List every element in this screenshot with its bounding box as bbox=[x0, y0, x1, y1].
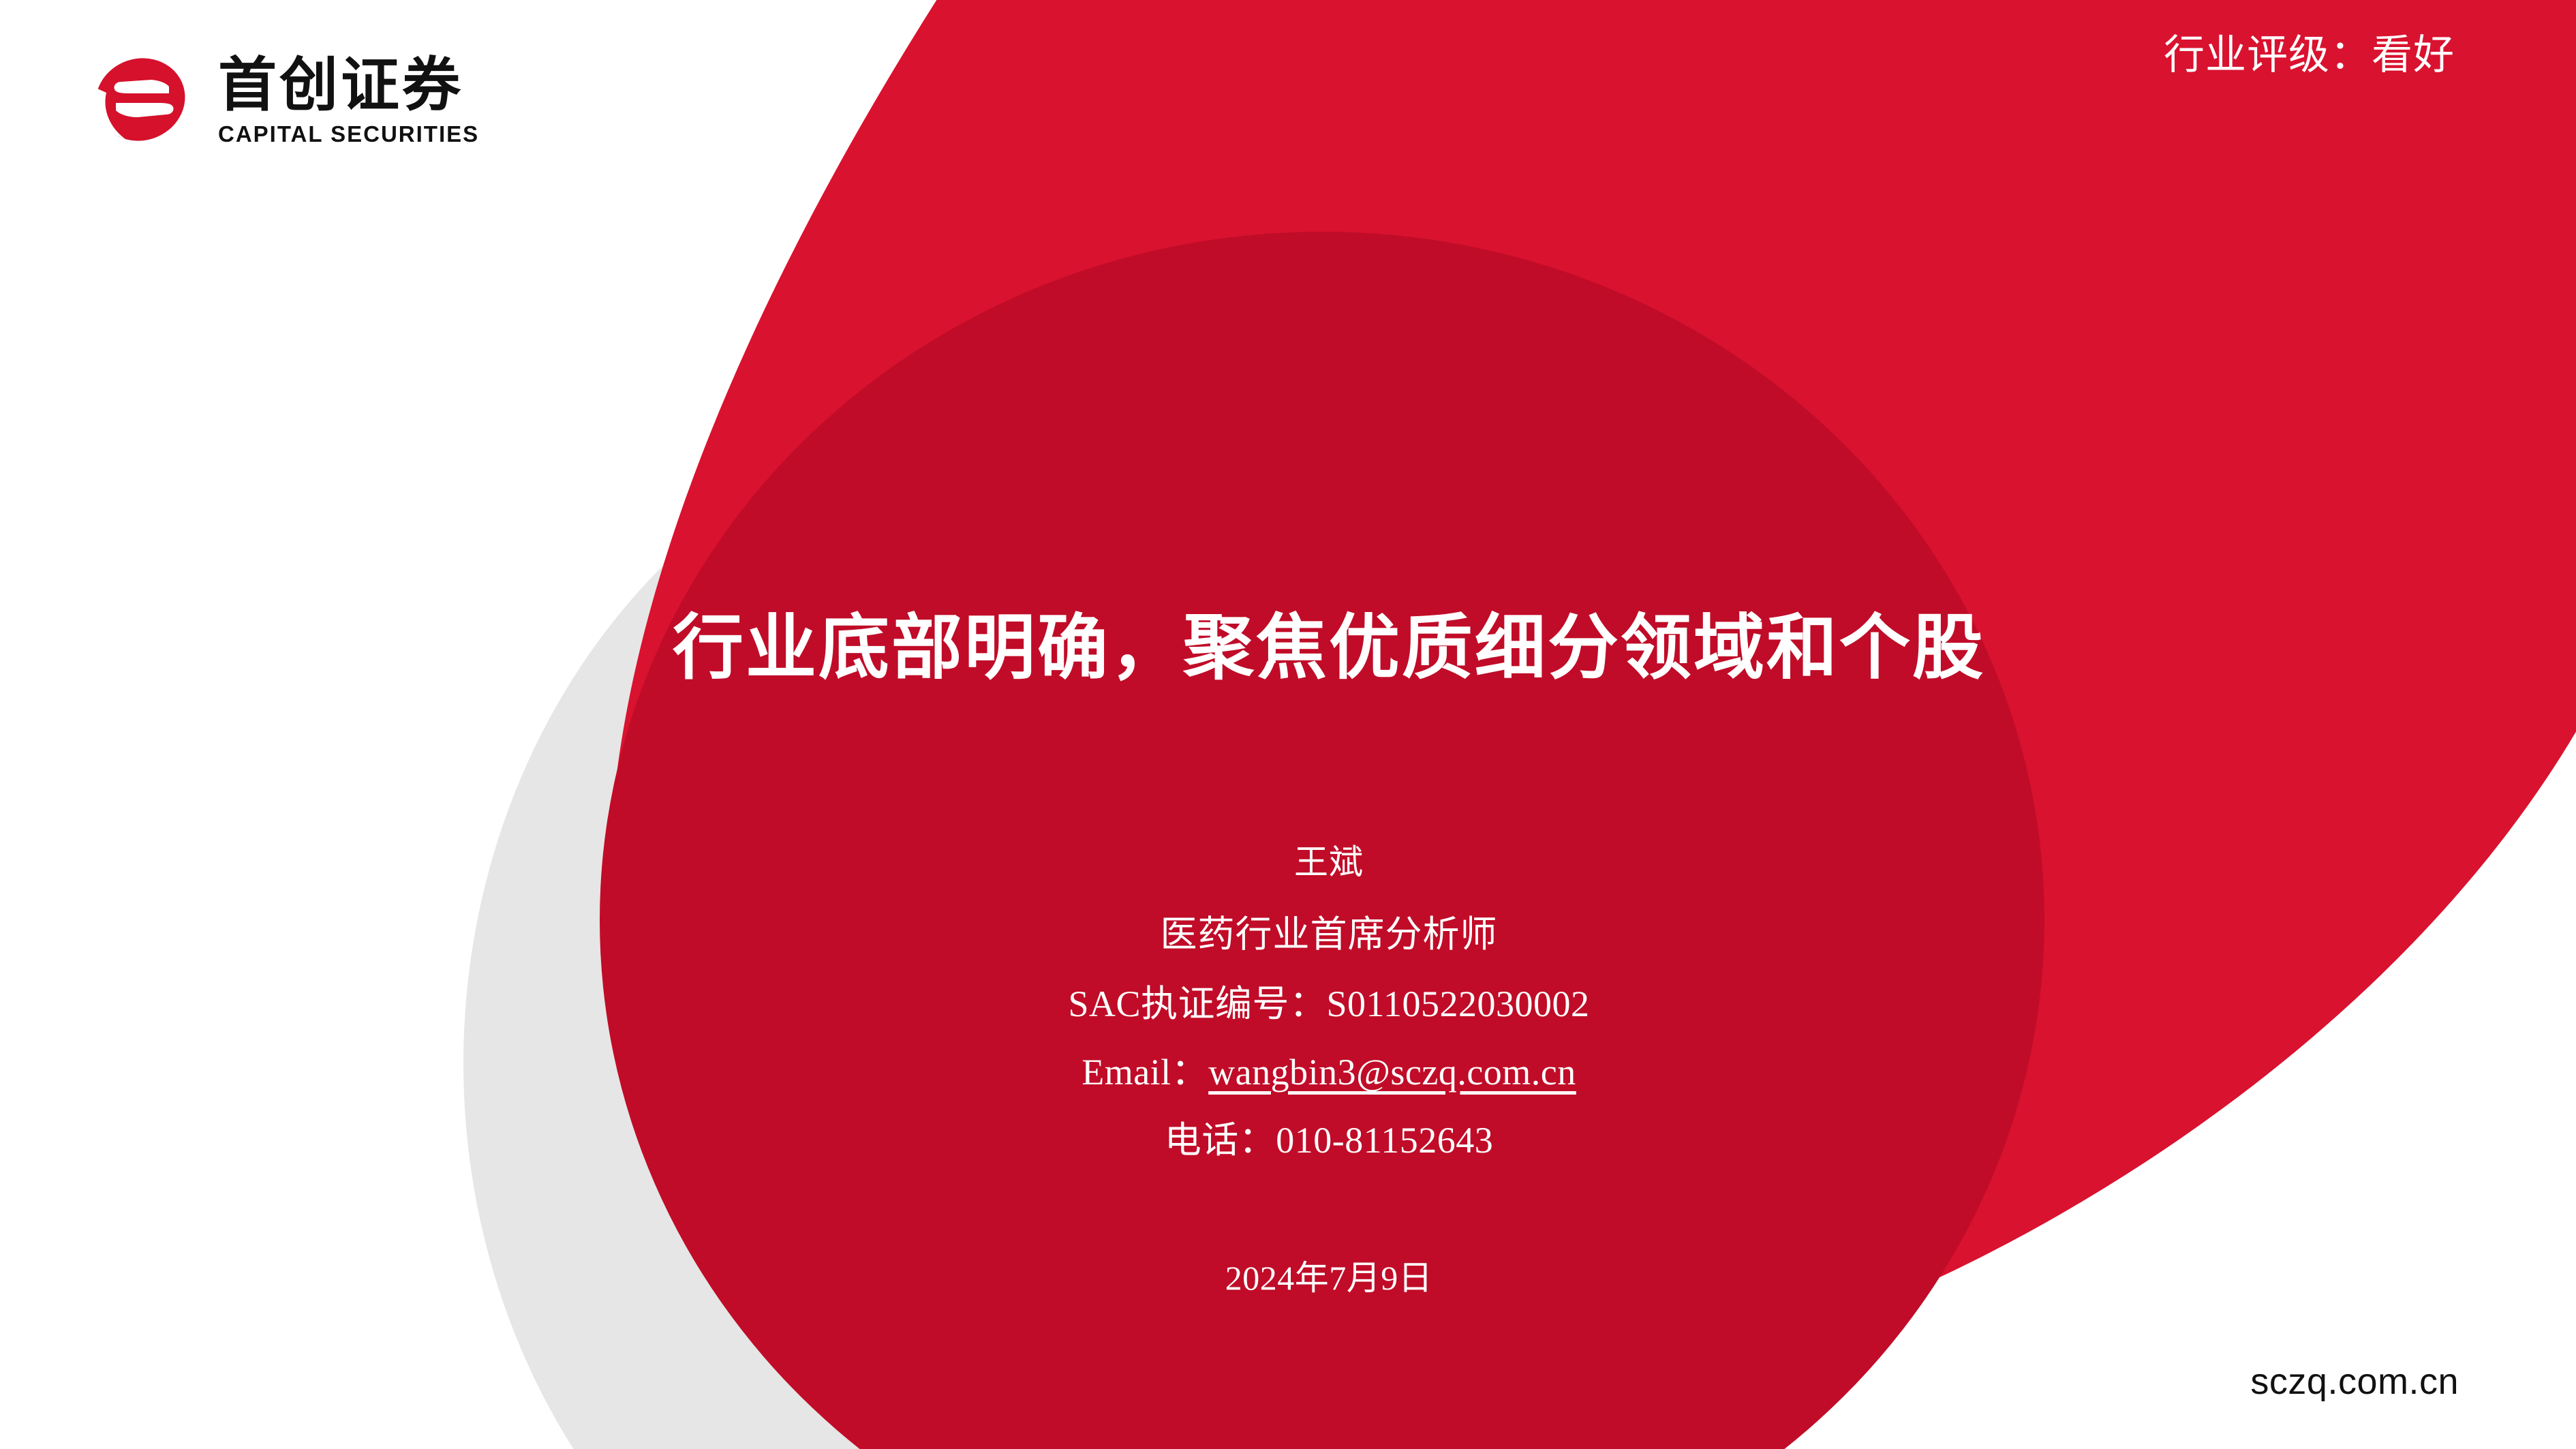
presentation-cover-slide: 首创证券 CAPITAL SECURITIES 行业评级：看好 行业底部明确，聚… bbox=[0, 0, 2576, 1449]
brand-logo[interactable]: 首创证券 CAPITAL SECURITIES bbox=[80, 53, 479, 145]
sac-license-line: SAC执证编号：S0110522030002 bbox=[82, 986, 2576, 1022]
industry-rating-label: 行业评级：看好 bbox=[2164, 33, 2455, 78]
phone-line: 电话：010-81152643 bbox=[82, 1122, 2576, 1159]
brand-name-en: CAPITAL SECURITIES bbox=[218, 123, 479, 145]
phone-label: 电话： bbox=[1165, 1120, 1276, 1161]
phone-value: 010-81152643 bbox=[1276, 1120, 1493, 1161]
brand-logo-wordmark: 首创证券 CAPITAL SECURITIES bbox=[218, 56, 479, 145]
author-role: 医药行业首席分析师 bbox=[82, 916, 2576, 953]
page-title: 行业底部明确，聚焦优质细分领域和个股 bbox=[0, 607, 2576, 690]
author-info-block: 王斌 医药行业首席分析师 SAC执证编号：S0110522030002 Emai… bbox=[0, 845, 2576, 1295]
email-label: Email： bbox=[1082, 1052, 1208, 1093]
sac-license-value: S0110522030002 bbox=[1327, 983, 1590, 1024]
brand-name-cn: 首创证券 bbox=[218, 56, 479, 115]
sac-license-label: SAC执证编号： bbox=[1068, 983, 1326, 1024]
author-name: 王斌 bbox=[82, 845, 2576, 879]
email-value-link[interactable]: wangbin3@sczq.com.cn bbox=[1208, 1052, 1576, 1093]
footer-website-url[interactable]: sczq.com.cn bbox=[2250, 1363, 2459, 1400]
publish-date: 2024年7月9日 bbox=[82, 1261, 2576, 1295]
email-line: Email：wangbin3@sczq.com.cn bbox=[82, 1054, 2576, 1090]
capital-securities-s-mark-icon bbox=[80, 55, 200, 144]
